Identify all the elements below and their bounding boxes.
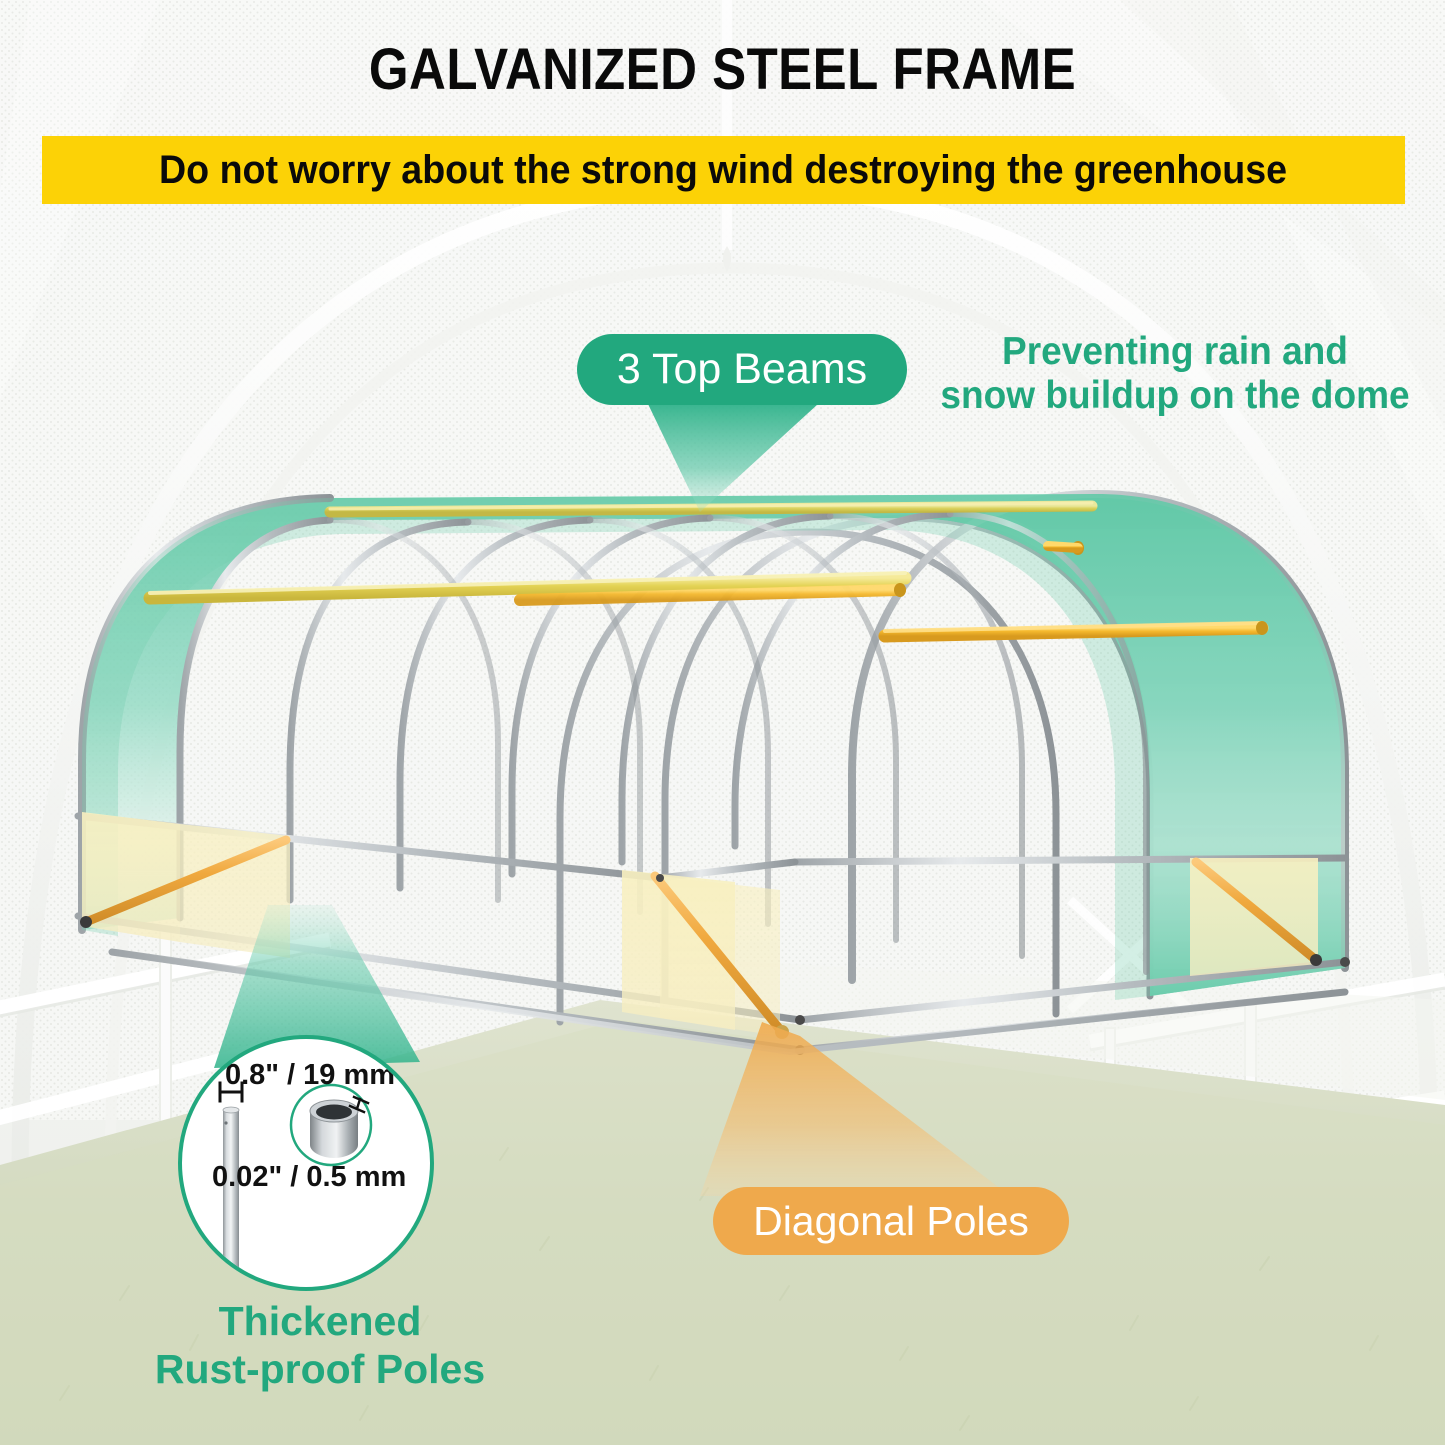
- cone-pointer-icon: [648, 404, 818, 512]
- pole-diameter-label: 0.8" / 19 mm: [196, 1059, 424, 1092]
- cone-pointer-icon: [700, 1022, 1010, 1196]
- tube-cross-section-icon: [291, 1085, 371, 1165]
- feature-text-rust-proof-line2: Rust-proof Poles: [110, 1346, 530, 1394]
- feature-text-rust-proof: Thickened Rust-proof Poles: [110, 1298, 530, 1393]
- callout-badge-diagonal-poles-label: Diagonal Poles: [753, 1198, 1029, 1245]
- callout-badge-diagonal-poles[interactable]: Diagonal Poles: [713, 1187, 1069, 1255]
- callout-badge-top-beams-label: 3 Top Beams: [617, 345, 867, 394]
- feature-text-rain-snow: Preventing rain and snow buildup on the …: [928, 330, 1422, 417]
- detail-circle-callout: 0.8" / 19 mm 0.02" / 0.5 mm: [178, 1035, 434, 1291]
- pole-wall-thickness-label: 0.02" / 0.5 mm: [212, 1161, 434, 1194]
- feature-text-rain-snow-line1: Preventing rain and: [928, 330, 1422, 374]
- callout-badge-top-beams[interactable]: 3 Top Beams: [577, 334, 907, 405]
- feature-text-rust-proof-line1: Thickened: [110, 1298, 530, 1346]
- feature-text-rain-snow-line2: snow buildup on the dome: [928, 374, 1422, 418]
